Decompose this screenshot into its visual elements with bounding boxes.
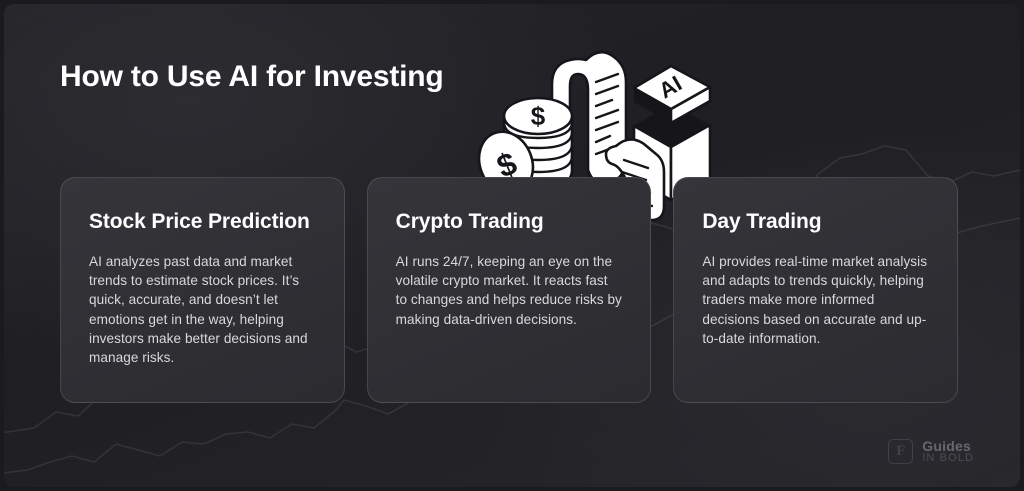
card-day-trading: Day Trading AI provides real-time market… <box>673 177 958 403</box>
card-stock-price-prediction: Stock Price Prediction AI analyzes past … <box>60 177 345 403</box>
page-title: How to Use AI for Investing <box>60 60 444 94</box>
logo-monogram-icon: F <box>888 439 913 464</box>
logo-secondary-text: IN BOLD <box>922 453 974 465</box>
feature-card-row: Stock Price Prediction AI analyzes past … <box>60 177 958 403</box>
svg-text:AI: AI <box>654 71 686 104</box>
card-body: AI analyzes past data and market trends … <box>89 252 316 367</box>
brand-logo: F Guides IN BOLD <box>888 439 974 465</box>
card-title: Day Trading <box>702 210 929 234</box>
infographic-canvas: How to Use AI for Investing .w { fill:#f… <box>4 4 1020 487</box>
logo-primary-text: Guides <box>922 439 974 454</box>
card-body: AI runs 24/7, keeping an eye on the vola… <box>396 252 623 329</box>
coin-stack-icon: $ <box>504 98 572 188</box>
card-title: Stock Price Prediction <box>89 210 316 234</box>
card-crypto-trading: Crypto Trading AI runs 24/7, keeping an … <box>367 177 652 403</box>
svg-text:$: $ <box>531 101 546 131</box>
card-body: AI provides real-time market analysis an… <box>702 252 929 348</box>
card-title: Crypto Trading <box>396 210 623 234</box>
logo-wordmark: Guides IN BOLD <box>922 439 974 465</box>
